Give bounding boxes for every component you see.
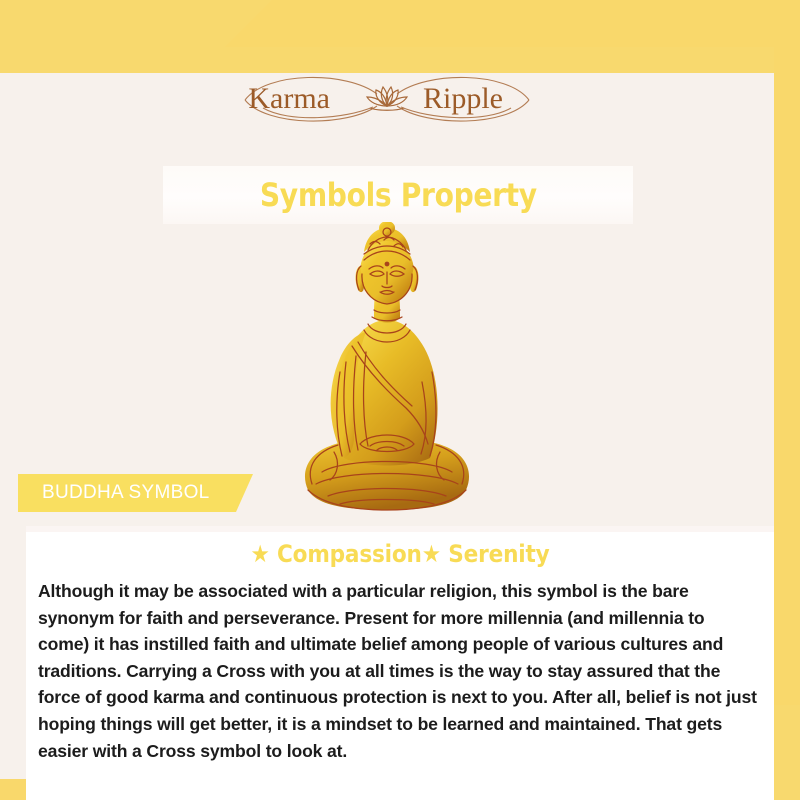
brand-name-right: Ripple bbox=[423, 82, 503, 115]
page-title: Symbols Property bbox=[260, 176, 537, 214]
title-band: Symbols Property bbox=[163, 166, 633, 224]
infographic-card: Karma Ripple Symbols Property bbox=[0, 26, 774, 800]
brand-logo: Karma Ripple bbox=[0, 64, 774, 136]
frame-accent-right bbox=[774, 0, 800, 705]
panel-top-divider bbox=[26, 526, 774, 532]
description-paragraph: Although it may be associated with a par… bbox=[38, 578, 760, 764]
buddha-symbol-banner: BUDDHA SYMBOL bbox=[18, 474, 253, 512]
brand-name-left: Karma bbox=[248, 82, 330, 115]
buddha-symbol-banner-label: BUDDHA SYMBOL bbox=[18, 482, 210, 504]
content-panel: ★ Compassion★ Serenity Although it may b… bbox=[26, 526, 774, 800]
attributes-subtitle: ★ Compassion★ Serenity bbox=[63, 540, 736, 568]
brand-logo-svg: Karma Ripple bbox=[227, 67, 547, 133]
seated-golden-buddha-statue-icon bbox=[282, 222, 492, 522]
